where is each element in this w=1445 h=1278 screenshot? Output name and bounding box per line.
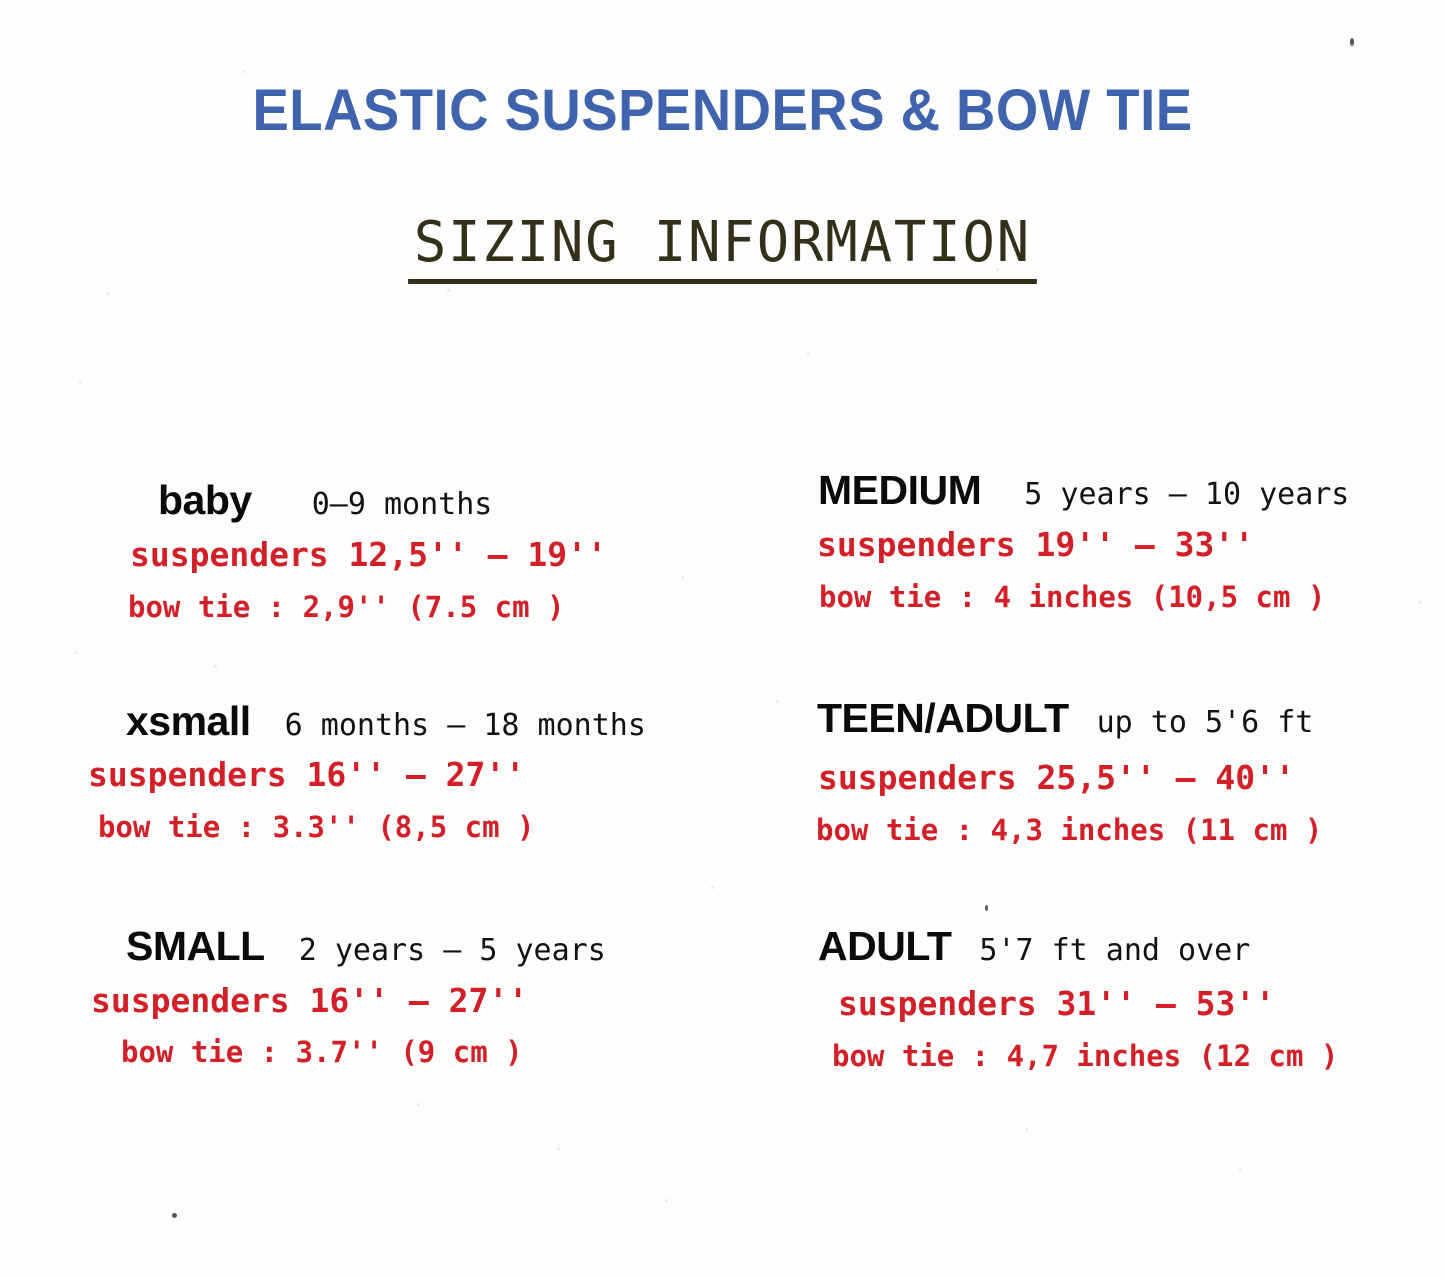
size-cell-adult: ADULT 5'7 ft and over suspenders 31'' – …: [722, 906, 1445, 1124]
size-block: ADULT 5'7 ft and over suspenders 31'' – …: [818, 926, 1338, 1071]
suspenders-measurement: suspenders 31'' – 53'': [838, 987, 1338, 1020]
size-block: TEEN/ADULT up to 5'6 ft suspenders 25,5'…: [817, 698, 1322, 845]
size-cell-xsmall: xsmall 6 months – 18 months suspenders 1…: [0, 688, 722, 906]
age-range-label: up to 5'6 ft: [1097, 708, 1314, 738]
age-range-label: 6 months – 18 months: [285, 711, 646, 741]
age-range-label: 0–9 months: [312, 490, 493, 520]
size-block: MEDIUM 5 years – 10 years suspenders 19'…: [818, 470, 1349, 612]
size-cell-medium: MEDIUM 5 years – 10 years suspenders 19'…: [722, 470, 1445, 688]
size-label: ADULT: [818, 926, 951, 967]
bowtie-measurement: bow tie : 4,7 inches (12 cm ): [832, 1042, 1338, 1071]
sizing-grid: baby 0–9 months suspenders 12,5'' – 19''…: [0, 470, 1445, 1124]
size-label: baby: [158, 480, 252, 521]
size-block: xsmall 6 months – 18 months suspenders 1…: [126, 701, 646, 842]
size-cell-teen-adult: TEEN/ADULT up to 5'6 ft suspenders 25,5'…: [722, 688, 1445, 906]
age-range-label: 5'7 ft and over: [979, 936, 1250, 966]
size-head-row: MEDIUM 5 years – 10 years: [818, 470, 1349, 511]
suspenders-measurement: suspenders 19'' – 33'': [817, 528, 1349, 561]
header: ELASTIC SUSPENDERS & BOW TIE SIZING INFO…: [0, 0, 1445, 331]
bowtie-measurement: bow tie : 4,3 inches (11 cm ): [816, 816, 1322, 845]
size-head-row: xsmall 6 months – 18 months: [126, 701, 646, 742]
size-label: SMALL: [126, 926, 265, 967]
bowtie-measurement: bow tie : 3.7'' (9 cm ): [121, 1038, 606, 1067]
suspenders-measurement: suspenders 12,5'' – 19'': [130, 538, 607, 571]
size-label: TEEN/ADULT: [817, 698, 1069, 739]
size-head-row: baby 0–9 months: [158, 480, 607, 521]
age-range-label: 5 years – 10 years: [1024, 480, 1349, 510]
page-title: ELASTIC SUSPENDERS & BOW TIE: [43, 0, 1401, 140]
age-range-label: 2 years – 5 years: [299, 936, 606, 966]
bowtie-measurement: bow tie : 3.3'' (8,5 cm ): [98, 813, 646, 842]
size-head-row: TEEN/ADULT up to 5'6 ft: [817, 698, 1322, 739]
suspenders-measurement: suspenders 16'' – 27'': [88, 758, 646, 791]
size-cell-small: SMALL 2 years – 5 years suspenders 16'' …: [0, 906, 722, 1124]
size-label: MEDIUM: [818, 470, 981, 511]
size-block: SMALL 2 years – 5 years suspenders 16'' …: [126, 926, 606, 1067]
size-head-row: ADULT 5'7 ft and over: [818, 926, 1338, 967]
bowtie-measurement: bow tie : 4 inches (10,5 cm ): [819, 583, 1349, 612]
suspenders-measurement: suspenders 16'' – 27'': [91, 984, 606, 1017]
page-subtitle: SIZING INFORMATION: [408, 214, 1037, 284]
bowtie-measurement: bow tie : 2,9'' (7.5 cm ): [128, 593, 607, 622]
size-cell-baby: baby 0–9 months suspenders 12,5'' – 19''…: [0, 470, 722, 688]
size-label: xsmall: [126, 701, 251, 742]
suspenders-measurement: suspenders 25,5'' – 40'': [818, 761, 1322, 794]
size-head-row: SMALL 2 years – 5 years: [126, 926, 606, 967]
size-block: baby 0–9 months suspenders 12,5'' – 19''…: [158, 480, 607, 622]
subtitle-row: SIZING INFORMATION: [0, 168, 1445, 331]
